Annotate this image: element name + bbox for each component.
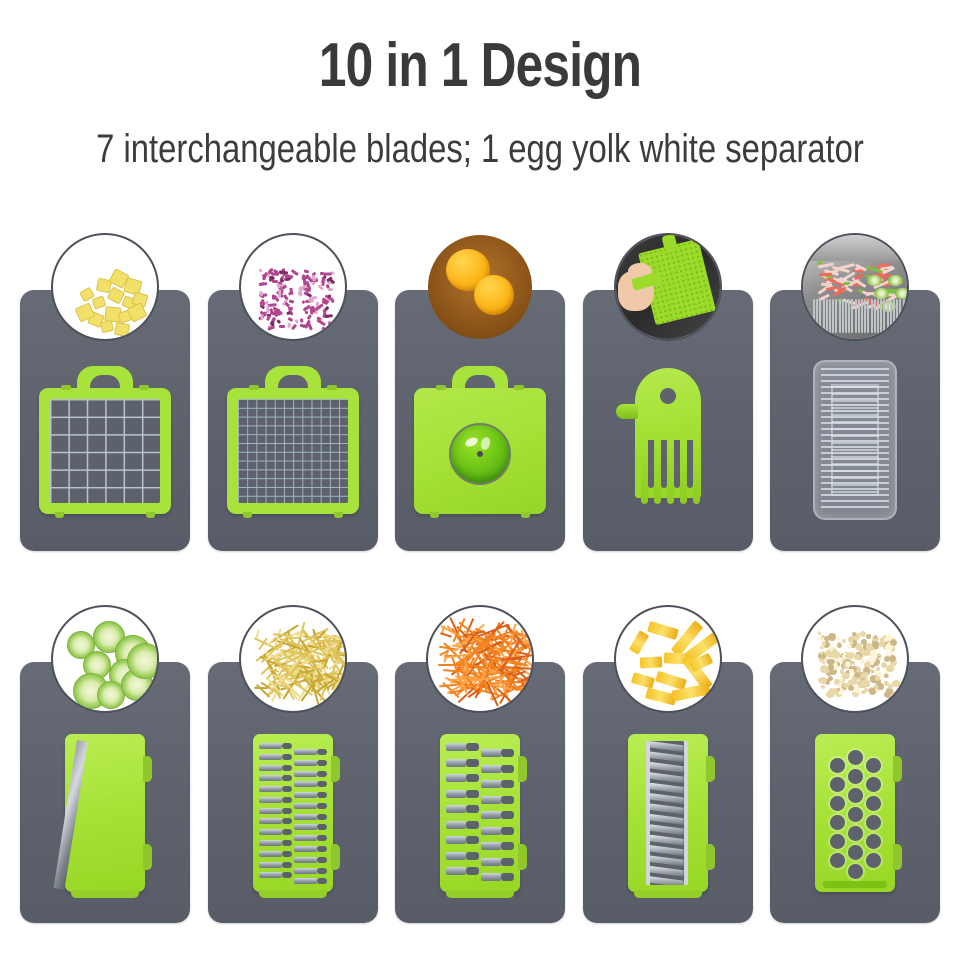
blob-shape	[300, 318, 303, 322]
ghole-shape	[830, 834, 845, 849]
blob-shape	[331, 322, 334, 326]
food-inset-egg-yolks	[426, 233, 534, 341]
blob-shape	[301, 300, 305, 304]
side-tab	[616, 404, 638, 419]
blob-shape	[331, 297, 336, 303]
crumb-shape	[845, 661, 851, 667]
jblade-shape	[446, 759, 479, 767]
blob-shape	[92, 295, 107, 309]
crumb-shape	[849, 669, 853, 673]
strand-shape	[877, 299, 879, 333]
jblade-shape	[294, 771, 327, 777]
jblade-shape	[294, 846, 327, 852]
crumb-shape	[825, 650, 832, 657]
strand-shape	[813, 299, 815, 333]
tooth-shape	[641, 440, 648, 504]
product-cell-cleaning-comb-tool[interactable]	[583, 290, 753, 551]
strand-shape	[842, 299, 844, 333]
crumb-shape	[820, 652, 823, 655]
product-cell-egg-yolk-separator[interactable]	[395, 290, 565, 551]
frame-foot-right	[146, 512, 155, 518]
crumb-shape	[828, 633, 836, 641]
ghole-shape	[866, 796, 881, 811]
product-cell-fine-julienne-blade[interactable]	[208, 662, 378, 923]
blob-shape	[279, 289, 282, 297]
comb-gap-shape	[661, 440, 667, 488]
crumb-shape	[853, 640, 857, 644]
separator-dome-icon	[449, 423, 511, 485]
base-lip	[71, 890, 139, 898]
zig-shape	[650, 762, 684, 773]
jblade-shape	[446, 774, 479, 782]
comb-teeth	[635, 440, 701, 504]
blade-frame	[39, 388, 171, 514]
jblade-shape	[259, 872, 292, 878]
strand-shape	[874, 299, 876, 333]
strand-shape	[887, 299, 889, 333]
blob-shape	[266, 315, 270, 321]
tooth-shape	[693, 440, 700, 504]
base-lip	[259, 890, 327, 898]
product-cell-straight-slicer-blade[interactable]	[20, 662, 190, 923]
ghole-shape	[866, 815, 881, 830]
tooth-shape	[680, 440, 687, 504]
blob-shape	[328, 288, 333, 291]
side-tab-top	[706, 756, 715, 782]
fry-shape	[628, 630, 649, 655]
food-art	[53, 235, 157, 339]
crumb-shape	[821, 635, 825, 639]
hang-hole	[660, 388, 676, 404]
crumb-shape	[842, 639, 846, 643]
base-lip	[823, 881, 887, 888]
zig-shape	[650, 866, 684, 877]
zig-shape	[650, 814, 684, 825]
blade-column-left	[446, 743, 479, 883]
blob-shape	[277, 284, 280, 289]
crumb-shape	[860, 680, 868, 688]
food-inset-minced-onion	[239, 233, 347, 341]
ghole-shape	[830, 796, 845, 811]
grid-lines-icon	[50, 399, 160, 503]
food-art	[803, 235, 907, 339]
ghole-shape	[830, 853, 845, 868]
crumb-shape	[853, 686, 860, 693]
jblade-shape	[259, 743, 292, 749]
crumb-shape	[834, 691, 838, 695]
frame-nub-right	[327, 385, 337, 390]
separator-plate	[414, 388, 546, 514]
product-row-bottom	[20, 662, 940, 923]
crumb-shape	[886, 688, 893, 695]
steel-blade-icon	[54, 740, 88, 890]
zigzag-blade-icon	[650, 741, 684, 885]
frame-foot-right	[334, 512, 343, 518]
comb-gap-shape	[687, 440, 693, 488]
jblade-shape	[294, 792, 327, 798]
strand-shape	[888, 275, 903, 286]
food-inset-mixed-vegetables	[801, 233, 909, 341]
strand-shape	[896, 299, 898, 333]
cleaning-comb-icon	[635, 368, 701, 498]
crumb-shape	[847, 644, 852, 649]
crumb-shape	[884, 674, 888, 678]
blade-grid-fine	[238, 399, 348, 503]
jblade-shape	[259, 808, 292, 814]
food-art	[428, 607, 532, 711]
strand-shape	[893, 299, 895, 333]
jblade-shape	[481, 765, 514, 773]
side-tab-bottom	[518, 844, 527, 870]
crumb-shape	[861, 639, 867, 645]
jblade-shape	[446, 743, 479, 751]
blob-shape	[276, 319, 280, 323]
crumb-shape	[876, 667, 880, 671]
cuke-shape	[127, 643, 159, 679]
food-art	[241, 235, 345, 339]
blob-shape	[322, 326, 326, 330]
zig-shape	[650, 824, 684, 835]
ghole-shape	[866, 758, 881, 773]
crumb-shape	[864, 688, 868, 692]
separator-center-dot	[477, 451, 483, 457]
strand-shape	[880, 299, 882, 333]
jblade-shape	[294, 760, 327, 766]
zig-shape	[650, 845, 684, 856]
blob-shape	[304, 311, 307, 314]
crumb-shape	[837, 643, 842, 648]
jblade-shape	[481, 858, 514, 866]
product-cell-small-dice-blade[interactable]	[208, 290, 378, 551]
strand-shape	[832, 299, 834, 333]
jblade-shape	[259, 851, 292, 857]
jblade-shape	[259, 829, 292, 835]
blob-shape	[317, 319, 326, 326]
strand-shape	[845, 299, 847, 333]
strand-shape	[895, 288, 909, 299]
jblade-shape	[259, 754, 292, 760]
side-tab-bottom	[331, 844, 340, 870]
base-lip	[446, 890, 514, 898]
food-inset-diced-potato	[51, 233, 159, 341]
jblade-shape	[446, 836, 479, 844]
drain-basket-icon	[813, 360, 897, 520]
yolk-shape	[474, 275, 514, 315]
strand-shape	[823, 299, 825, 333]
blade-frame	[227, 388, 359, 514]
ghole-shape	[848, 788, 863, 803]
jblade-shape	[481, 827, 514, 835]
crumb-shape	[886, 665, 894, 673]
ghole-shape	[848, 864, 863, 879]
side-tab-bottom	[143, 844, 152, 870]
blob-shape	[261, 314, 264, 320]
page-subtitle: 7 interchangeable blades; 1 egg yolk whi…	[86, 127, 873, 172]
jblade-shape	[294, 803, 327, 809]
food-inset-hand-cleaning	[614, 233, 722, 341]
blob-shape	[270, 311, 276, 315]
blob-shape	[295, 319, 299, 324]
jblade-shape	[259, 775, 292, 781]
crumb-shape	[859, 633, 862, 636]
side-tab-top	[518, 756, 527, 782]
fry-shape	[630, 672, 654, 689]
jblade-shape	[259, 797, 292, 803]
fry-shape	[655, 671, 687, 691]
base-lip	[634, 890, 702, 898]
wavy-body	[628, 734, 708, 892]
ghole-shape	[848, 826, 863, 841]
jblade-shape	[259, 862, 292, 868]
jblade-shape	[294, 857, 327, 863]
blob-shape	[114, 322, 130, 337]
jblade-shape	[481, 749, 514, 757]
ghole-shape	[866, 853, 881, 868]
blade-column-left	[259, 743, 292, 883]
frame-foot-right	[521, 512, 530, 518]
zig-shape	[650, 793, 684, 804]
product-cell-large-dice-blade[interactable]	[20, 290, 190, 551]
strand-shape	[826, 299, 828, 333]
tooth-shape	[667, 440, 674, 504]
jblade-shape	[294, 781, 327, 787]
product-infographic: 10 in 1 Design 7 interchangeable blades;…	[0, 0, 960, 960]
food-art	[616, 607, 720, 711]
blob-shape	[259, 269, 262, 272]
food-art	[53, 607, 157, 711]
zig-shape	[650, 803, 684, 814]
crumb-shape	[828, 664, 835, 671]
blade-column-right	[481, 749, 514, 883]
ghole-shape	[866, 834, 881, 849]
blob-shape	[284, 274, 292, 278]
frame-nub-left	[61, 385, 71, 390]
slicer-body	[65, 734, 145, 892]
frame-foot-left	[243, 512, 252, 518]
jblade-shape	[294, 835, 327, 841]
product-cell-coarse-julienne-blade[interactable]	[395, 662, 565, 923]
jblade-shape	[446, 867, 479, 875]
jblade-shape	[446, 790, 479, 798]
crumb-shape	[892, 691, 899, 698]
ghole-shape	[830, 777, 845, 792]
frame-nub-right	[514, 385, 524, 390]
crumb-shape	[866, 634, 871, 639]
blob-shape	[307, 322, 313, 331]
jblade-shape	[259, 765, 292, 771]
blob-shape	[288, 299, 294, 303]
julienne-body	[253, 734, 333, 892]
side-tab-top	[893, 756, 902, 782]
ghole-shape	[848, 769, 863, 784]
crumb-shape	[892, 680, 900, 688]
jblade-shape	[259, 840, 292, 846]
page-title: 10 in 1 Design	[96, 30, 864, 101]
jblade-shape	[481, 796, 514, 804]
zig-shape	[650, 876, 684, 885]
zig-shape	[650, 772, 684, 783]
strand-shape	[864, 299, 866, 333]
ghole-shape	[866, 777, 881, 792]
grid-lines-icon	[238, 399, 348, 503]
blob-shape	[259, 283, 267, 286]
rail-right	[684, 741, 688, 885]
crumb-shape	[854, 672, 860, 678]
shred-shape	[317, 640, 345, 642]
crumb-shape	[821, 685, 825, 689]
strand-shape	[803, 235, 909, 261]
jblade-shape	[481, 780, 514, 788]
frame-nub-right	[139, 385, 149, 390]
blade-column-right	[294, 749, 327, 883]
crumb-shape	[822, 641, 827, 646]
ghole-shape	[830, 815, 845, 830]
tooth-shape	[654, 440, 661, 504]
jblade-shape	[294, 824, 327, 830]
side-tab-top	[143, 756, 152, 782]
strand-shape	[890, 299, 892, 333]
jblade-shape	[446, 852, 479, 860]
zig-shape	[650, 783, 684, 794]
jblade-shape	[446, 821, 479, 829]
ghole-shape	[848, 845, 863, 860]
jblade-shape	[481, 842, 514, 850]
zig-shape	[650, 751, 684, 762]
crumb-shape	[863, 650, 869, 656]
crumb-shape	[874, 645, 879, 650]
comb-gap-shape	[648, 440, 654, 488]
fry-shape	[647, 621, 679, 640]
food-art	[241, 607, 345, 711]
blob-shape	[324, 273, 332, 276]
blob-shape	[279, 325, 286, 328]
strand-shape	[861, 299, 863, 333]
grater-plate	[815, 734, 895, 892]
food-art	[616, 235, 720, 339]
product-row-top	[20, 290, 940, 551]
strand-shape	[848, 299, 850, 333]
jblade-shape	[481, 811, 514, 819]
strand-shape	[874, 288, 889, 299]
jblade-shape	[294, 749, 327, 755]
blob-shape	[259, 290, 263, 295]
product-cell-drain-basket[interactable]	[770, 290, 940, 551]
frame-foot-left	[430, 512, 439, 518]
ghole-shape	[848, 750, 863, 765]
strand-shape	[858, 299, 860, 333]
food-inset-grated-food	[801, 605, 909, 713]
crumb-shape	[877, 653, 880, 656]
comb-gap-shape	[674, 440, 680, 488]
julienne-body	[440, 734, 520, 892]
strand-shape	[829, 299, 831, 333]
side-tab-bottom	[893, 844, 902, 870]
fry-shape	[639, 656, 662, 668]
frame-foot-left	[55, 512, 64, 518]
strand-shape	[867, 275, 882, 286]
greenpad-shape	[661, 234, 677, 251]
shred-shape	[285, 636, 300, 639]
zig-shape	[650, 835, 684, 846]
jblade-shape	[294, 878, 327, 884]
blob-shape	[303, 270, 309, 274]
crumb-shape	[852, 661, 856, 665]
strand-shape	[855, 299, 857, 333]
blob-shape	[325, 314, 333, 318]
food-art	[428, 235, 532, 339]
blob-shape	[287, 322, 290, 327]
food-inset-crinkle-fries	[614, 605, 722, 713]
zig-shape	[650, 855, 684, 866]
strand-shape	[871, 299, 873, 333]
strand-shape	[839, 299, 841, 333]
crumb-shape	[889, 655, 896, 662]
food-inset-shredded-potato	[239, 605, 347, 713]
blade-grid-coarse	[50, 399, 160, 503]
jblade-shape	[446, 805, 479, 813]
zig-shape	[650, 741, 684, 752]
frame-nub-left	[436, 385, 446, 390]
crumb-shape	[890, 639, 897, 646]
jblade-shape	[481, 873, 514, 881]
crumb-shape	[843, 683, 849, 689]
basket-center-grid	[831, 384, 879, 496]
jblade-shape	[294, 814, 327, 820]
food-inset-cucumber-slices	[51, 605, 159, 713]
crumb-shape	[837, 637, 841, 641]
crumb-shape	[870, 661, 874, 665]
strand-shape	[903, 299, 905, 333]
product-cell-wavy-crinkle-blade[interactable]	[583, 662, 753, 923]
jblade-shape	[259, 818, 292, 824]
crumb-shape	[869, 688, 877, 696]
blob-shape	[272, 280, 278, 283]
product-cell-round-hole-grater[interactable]	[770, 662, 940, 923]
side-tab-top	[331, 756, 340, 782]
blob-shape	[291, 324, 297, 330]
blob-shape	[288, 317, 294, 322]
blob-shape	[322, 277, 325, 286]
ghole-shape	[848, 807, 863, 822]
frame-nub-left	[249, 385, 259, 390]
side-tab-bottom	[706, 844, 715, 870]
strand-shape	[816, 299, 818, 333]
rail-left	[646, 741, 650, 885]
blob-shape	[100, 320, 114, 334]
jblade-shape	[294, 868, 327, 874]
food-art	[803, 607, 907, 711]
crumb-shape	[870, 650, 877, 657]
ghole-shape	[830, 758, 845, 773]
food-inset-shredded-carrot	[426, 605, 534, 713]
jblade-shape	[259, 786, 292, 792]
blob-shape	[299, 292, 303, 297]
